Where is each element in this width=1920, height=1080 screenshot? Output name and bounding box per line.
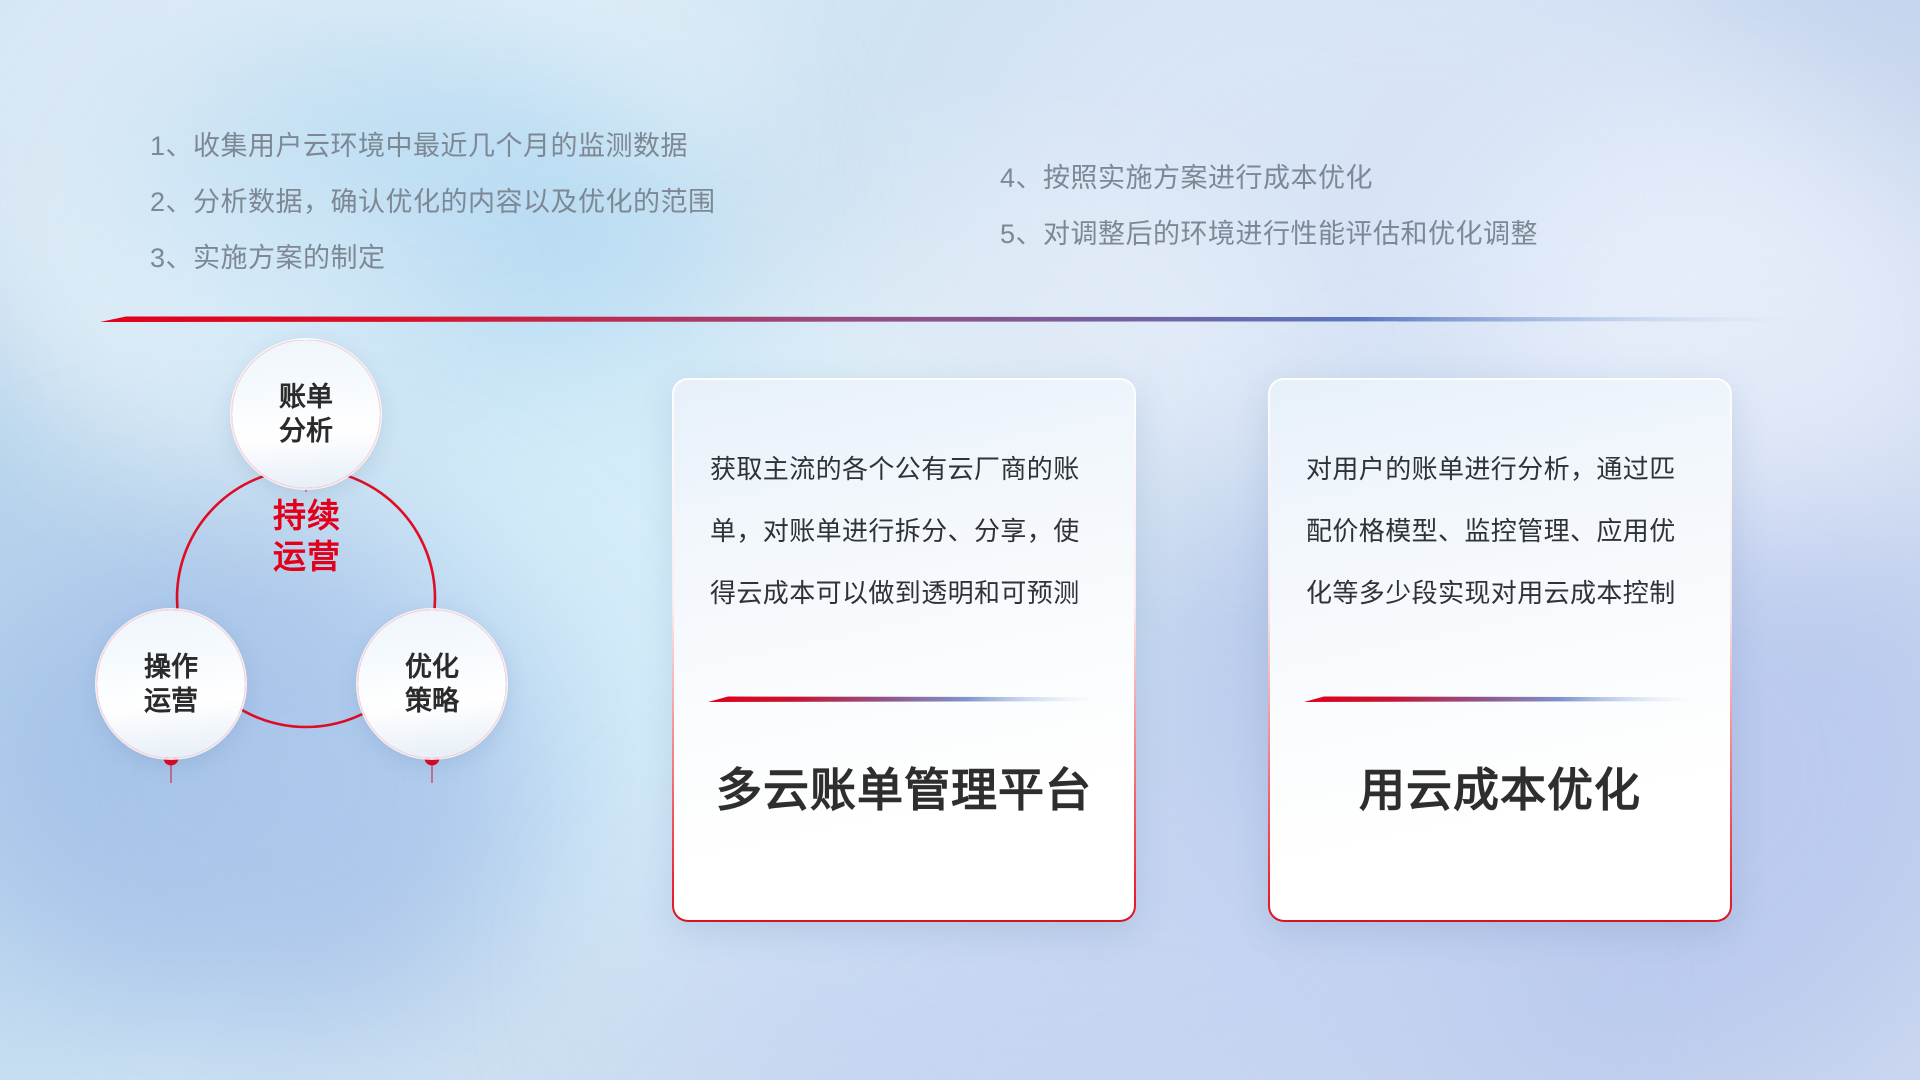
venn-bubble-label-line2: 分析 bbox=[279, 414, 333, 448]
steps-section: 1、收集用户云环境中最近几个月的监测数据 2、分析数据，确认优化的内容以及优化的… bbox=[0, 0, 1920, 300]
continuous-operation-diagram: 账单 分析 操作 运营 优化 策略 持续 运营 bbox=[80, 340, 640, 940]
step-item: 1、收集用户云环境中最近几个月的监测数据 bbox=[150, 118, 716, 174]
step-item: 3、实施方案的制定 bbox=[150, 230, 716, 286]
step-item: 5、对调整后的环境进行性能评估和优化调整 bbox=[1000, 206, 1538, 262]
venn-bubble-label-line1: 优化 bbox=[405, 650, 459, 684]
venn-bubble-label-line1: 操作 bbox=[144, 650, 198, 684]
card-body-text: 对用户的账单进行分析，通过匹配价格模型、监控管理、应用优化等多少段实现对用云成本… bbox=[1306, 438, 1700, 624]
venn-bubble-label-line2: 运营 bbox=[144, 684, 198, 718]
venn-bubble-label-line1: 账单 bbox=[279, 380, 333, 414]
venn-center-label: 持续 运营 bbox=[232, 495, 382, 578]
step-item: 2、分析数据，确认优化的内容以及优化的范围 bbox=[150, 174, 716, 230]
card-title: 用云成本优化 bbox=[1270, 754, 1730, 820]
steps-right-column: 4、按照实施方案进行成本优化 5、对调整后的环境进行性能评估和优化调整 bbox=[1000, 150, 1538, 262]
venn-center-label-line2: 运营 bbox=[232, 536, 382, 577]
card-divider bbox=[708, 694, 1100, 704]
card-inner: 获取主流的各个公有云厂商的账单，对账单进行拆分、分享，使得云成本可以做到透明和可… bbox=[674, 380, 1134, 920]
feature-card-multicloud-billing[interactable]: 获取主流的各个公有云厂商的账单，对账单进行拆分、分享，使得云成本可以做到透明和可… bbox=[672, 378, 1136, 922]
step-item: 4、按照实施方案进行成本优化 bbox=[1000, 150, 1538, 206]
card-inner: 对用户的账单进行分析，通过匹配价格模型、监控管理、应用优化等多少段实现对用云成本… bbox=[1270, 380, 1730, 920]
card-body-text: 获取主流的各个公有云厂商的账单，对账单进行拆分、分享，使得云成本可以做到透明和可… bbox=[710, 438, 1104, 624]
venn-bubble-operations[interactable]: 操作 运营 bbox=[97, 610, 245, 758]
venn-center-label-line1: 持续 bbox=[232, 495, 382, 536]
steps-left-column: 1、收集用户云环境中最近几个月的监测数据 2、分析数据，确认优化的内容以及优化的… bbox=[150, 118, 716, 286]
section-divider bbox=[100, 313, 1800, 325]
card-title: 多云账单管理平台 bbox=[674, 754, 1134, 820]
card-divider bbox=[1304, 694, 1696, 704]
venn-bubble-billing-analysis[interactable]: 账单 分析 bbox=[232, 340, 380, 488]
venn-bubble-optimization-strategy[interactable]: 优化 策略 bbox=[358, 610, 506, 758]
venn-bubble-label-line2: 策略 bbox=[405, 684, 459, 718]
feature-card-cloud-cost-optimization[interactable]: 对用户的账单进行分析，通过匹配价格模型、监控管理、应用优化等多少段实现对用云成本… bbox=[1268, 378, 1732, 922]
